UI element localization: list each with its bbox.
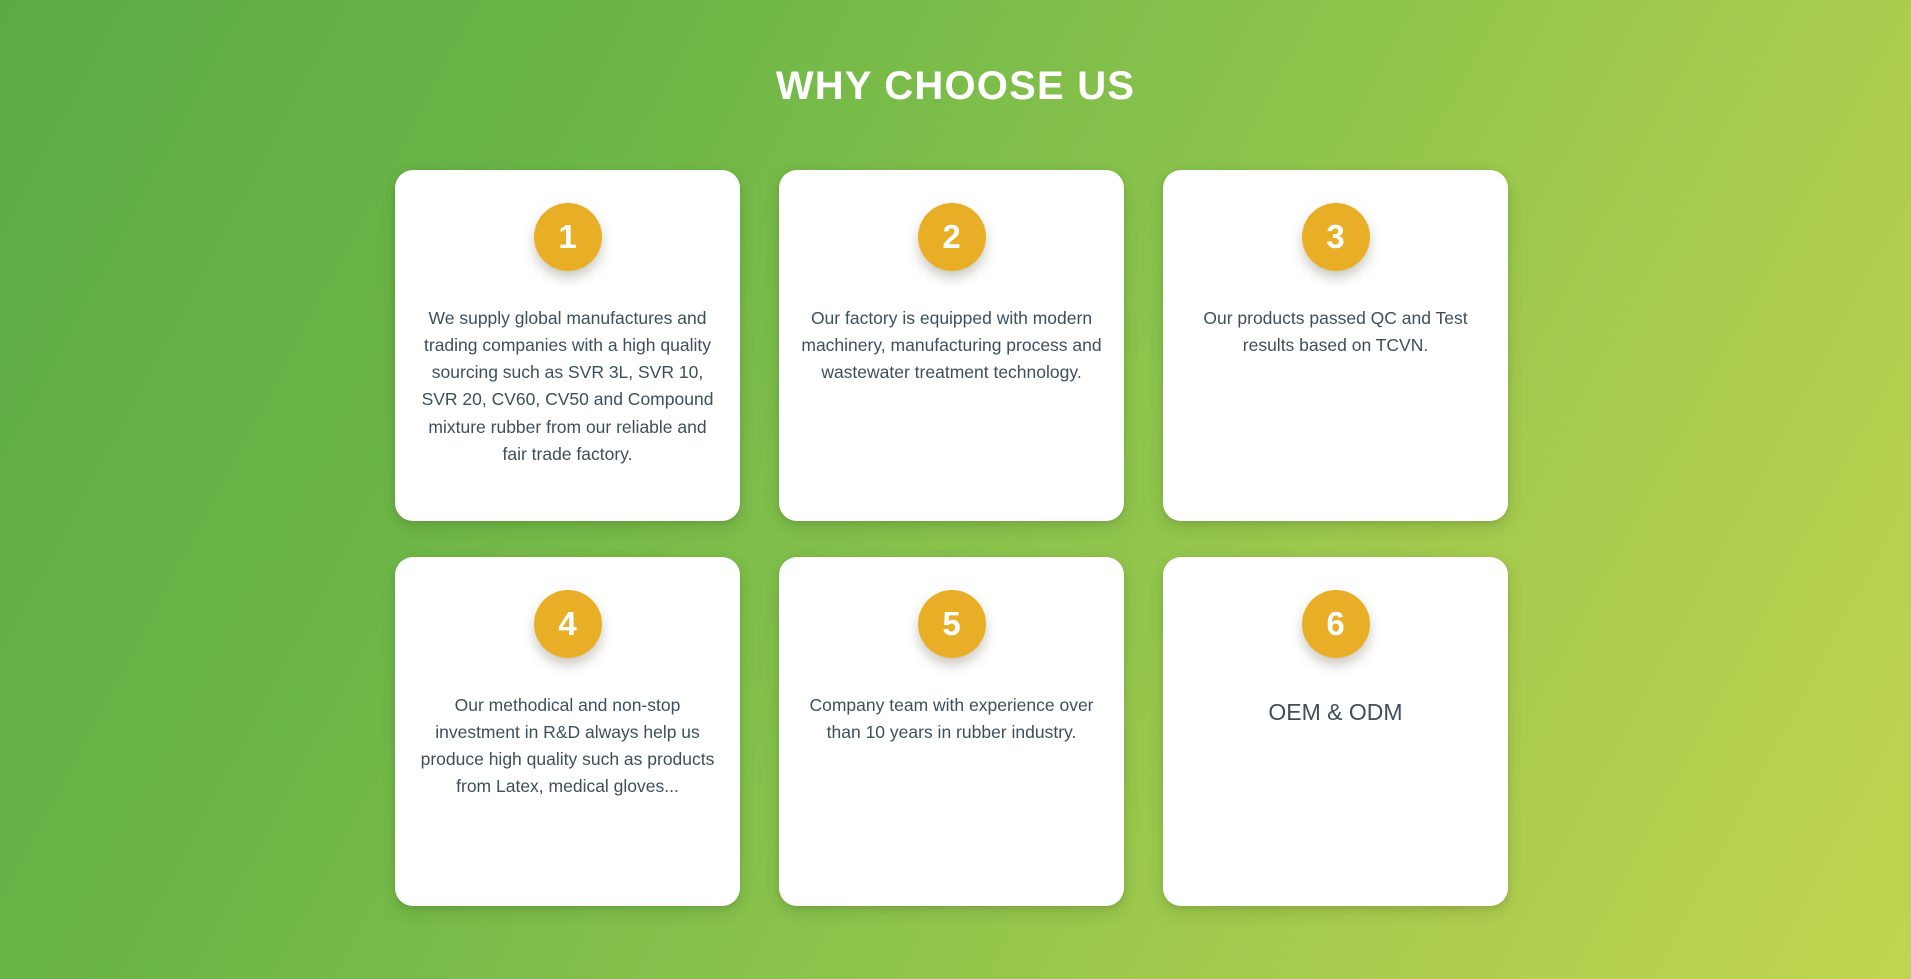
feature-cards-grid: 1 We supply global manufactures and trad… [395,170,1509,906]
card-description-4: Our methodical and non-stop investment i… [417,692,718,801]
card-description-3: Our products passed QC and Test results … [1185,305,1486,359]
section-heading: WHY CHOOSE US [0,62,1911,110]
card-number-badge-5: 5 [918,590,986,658]
feature-card-6: 6 OEM & ODM [1163,557,1508,906]
feature-card-1: 1 We supply global manufactures and trad… [395,170,740,521]
why-choose-us-section: WHY CHOOSE US 1 We supply global manufac… [0,0,1911,979]
feature-card-2: 2 Our factory is equipped with modern ma… [779,170,1124,521]
card-number-badge-2: 2 [918,203,986,271]
feature-card-3: 3 Our products passed QC and Test result… [1163,170,1508,521]
feature-card-4: 4 Our methodical and non-stop investment… [395,557,740,906]
card-description-6: OEM & ODM [1185,696,1486,728]
feature-card-5: 5 Company team with experience over than… [779,557,1124,906]
card-description-2: Our factory is equipped with modern mach… [801,305,1102,386]
card-number-badge-6: 6 [1302,590,1370,658]
card-number-badge-1: 1 [534,203,602,271]
card-description-1: We supply global manufactures and tradin… [417,305,718,468]
card-number-badge-3: 3 [1302,203,1370,271]
card-description-5: Company team with experience over than 1… [801,692,1102,746]
card-number-badge-4: 4 [534,590,602,658]
